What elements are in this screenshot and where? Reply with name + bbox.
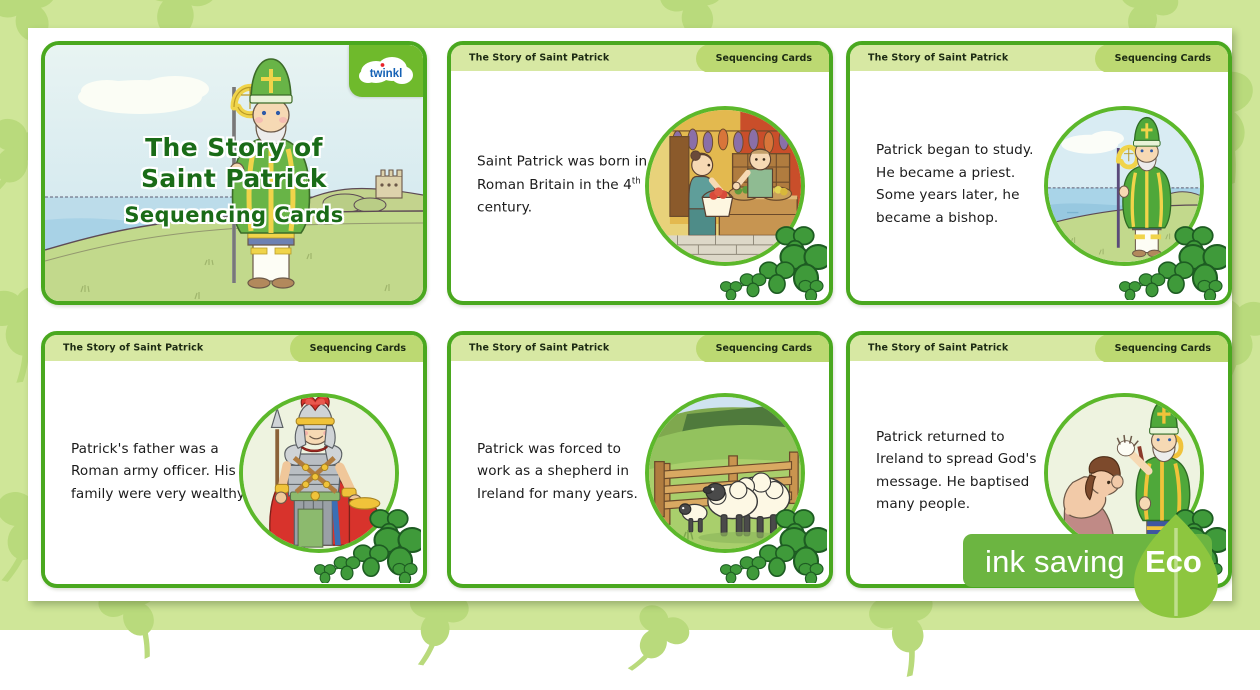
title-card[interactable]: The Story of Saint Patrick Sequencing Ca… bbox=[41, 41, 427, 305]
card-text: Saint Patrick was born in Roman Britain … bbox=[477, 151, 657, 219]
card-header-tab: Sequencing Cards bbox=[696, 334, 829, 363]
card-header: The Story of Saint Patrick Sequencing Ca… bbox=[850, 335, 1228, 362]
sequencing-card-2[interactable]: The Story of Saint Patrick Sequencing Ca… bbox=[846, 41, 1232, 305]
card-body: Patrick was forced to work as a shepherd… bbox=[451, 362, 829, 583]
sequencing-card-3[interactable]: The Story of Saint Patrick Sequencing Ca… bbox=[41, 331, 427, 588]
card-header-title: The Story of Saint Patrick bbox=[868, 53, 1008, 64]
twinkl-cloud-icon: twinkl bbox=[358, 54, 414, 88]
twinkl-logo[interactable]: twinkl bbox=[349, 45, 423, 97]
card-header-title: The Story of Saint Patrick bbox=[469, 53, 609, 64]
card-header: The Story of Saint Patrick Sequencing Ca… bbox=[451, 335, 829, 362]
card-header-tab: Sequencing Cards bbox=[696, 44, 829, 73]
card-text-before: Saint Patrick was born in Roman Britain … bbox=[477, 154, 647, 193]
card-text: Patrick returned to Ireland to spread Go… bbox=[876, 426, 1056, 516]
card-header-title: The Story of Saint Patrick bbox=[469, 343, 609, 354]
background-shamrock-icon bbox=[605, 588, 705, 690]
card-text: Patrick's father was a Roman army office… bbox=[71, 437, 251, 505]
card-header: The Story of Saint Patrick Sequencing Ca… bbox=[45, 335, 423, 362]
card-text: Patrick began to study. He became a prie… bbox=[876, 139, 1056, 229]
eco-badge-word: Eco bbox=[1145, 544, 1202, 580]
worksheet-page: The Story of Saint Patrick Sequencing Ca… bbox=[28, 28, 1232, 601]
sequencing-card-4[interactable]: The Story of Saint Patrick Sequencing Ca… bbox=[447, 331, 833, 588]
card-header-tab: Sequencing Cards bbox=[290, 334, 423, 363]
card-header: The Story of Saint Patrick Sequencing Ca… bbox=[451, 45, 829, 72]
card-illustration-roman-market-stall bbox=[645, 106, 805, 266]
card-header-title: The Story of Saint Patrick bbox=[63, 343, 203, 354]
ink-saving-eco-badge[interactable]: ink saving Eco bbox=[963, 530, 1243, 590]
card-text: Patrick was forced to work as a shepherd… bbox=[477, 437, 657, 505]
card-illustration-sheep-by-fence bbox=[645, 393, 805, 553]
svg-text:twinkl: twinkl bbox=[370, 68, 403, 80]
card-header-title: The Story of Saint Patrick bbox=[868, 343, 1008, 354]
card-body: Patrick began to study. He became a prie… bbox=[850, 72, 1228, 300]
card-illustration-roman-soldier bbox=[239, 393, 399, 553]
card-header-tab: Sequencing Cards bbox=[1095, 44, 1228, 73]
eco-badge-prefix: ink saving bbox=[985, 544, 1125, 580]
card-body: Patrick's father was a Roman army office… bbox=[45, 362, 423, 583]
ordinal-suffix: th bbox=[632, 175, 641, 185]
card-illustration-bishop-patrick-by-the-sea bbox=[1044, 106, 1204, 266]
card-text-after: century. bbox=[477, 199, 532, 215]
card-body: Saint Patrick was born in Roman Britain … bbox=[451, 72, 829, 300]
sequencing-card-1[interactable]: The Story of Saint Patrick Sequencing Ca… bbox=[447, 41, 833, 305]
card-header: The Story of Saint Patrick Sequencing Ca… bbox=[850, 45, 1228, 72]
card-header-tab: Sequencing Cards bbox=[1095, 334, 1228, 363]
